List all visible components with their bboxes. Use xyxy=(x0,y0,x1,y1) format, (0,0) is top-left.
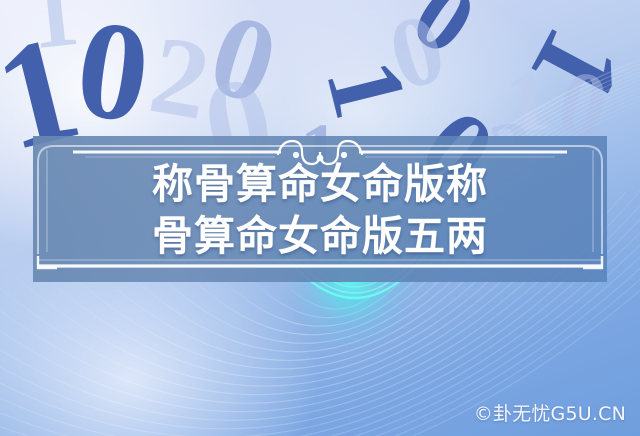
decor-numeral: 0 xyxy=(69,0,158,146)
decor-numeral: 0 xyxy=(379,0,455,107)
decor-numeral: 1 xyxy=(511,11,640,120)
title-line-1: 称骨算命女命版称 xyxy=(152,158,488,210)
banner-image: 101200101100012 xyxy=(0,0,640,436)
decor-numeral: 0 xyxy=(197,0,290,124)
banner-title: 称骨算命女命版称 骨算命女命版五两 xyxy=(33,148,607,272)
title-line-2: 骨算命女命版五两 xyxy=(152,210,488,262)
decor-numeral: 2 xyxy=(143,18,218,138)
decor-numeral: 0 xyxy=(397,0,490,71)
decor-numeral: 1 xyxy=(503,57,552,146)
site-watermark: ©卦无忧G5U.CN xyxy=(474,399,626,426)
decor-numeral: 1 xyxy=(309,50,425,127)
decor-numeral: 1 xyxy=(25,0,83,64)
